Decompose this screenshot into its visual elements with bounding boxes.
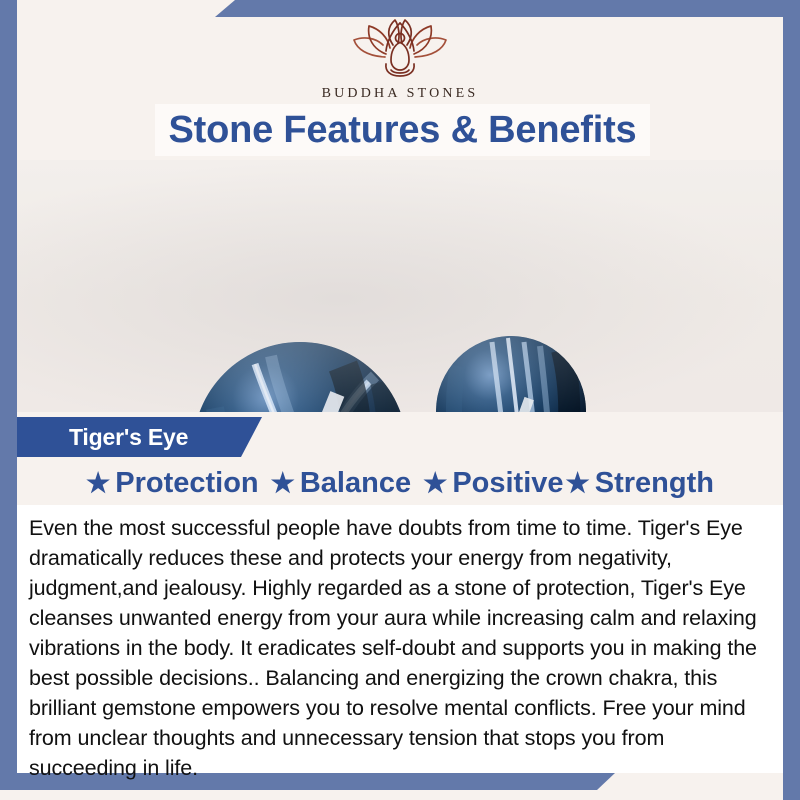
benefit-item-positive: ★ Positive — [423, 467, 563, 500]
lotus-meditation-icon — [347, 14, 453, 84]
medium-sphere-reflection-chip — [518, 397, 534, 412]
brand-name: BUDDHA STONES — [0, 86, 800, 102]
frame-band-left — [0, 0, 17, 790]
page-title: Stone Features & Benefits — [169, 109, 637, 152]
frame-band-right — [783, 0, 800, 800]
description-card: Even the most successful people have dou… — [17, 505, 783, 773]
star-icon: ★ — [271, 470, 295, 497]
medium-sphere-chatoyancy — [436, 336, 586, 412]
star-icon: ★ — [423, 470, 447, 497]
brand-logo: BUDDHA STONES — [0, 14, 800, 102]
large-sphere — [193, 342, 407, 412]
infographic-page: BUDDHA STONES Stone Features & Benefits — [0, 0, 800, 800]
benefits-row: ★ Protection ★ Balance ★ Positive ★ Stre… — [17, 462, 783, 504]
benefit-item-strength: ★ Strength — [566, 467, 714, 500]
benefit-item-balance: ★ Balance — [271, 467, 411, 500]
benefit-label: Balance — [300, 467, 411, 500]
large-sphere-reflection-chip — [321, 391, 345, 412]
benefit-item-protection: ★ Protection — [86, 467, 259, 500]
title-banner: Stone Features & Benefits — [155, 104, 650, 156]
stone-name-ribbon: Tiger's Eye — [17, 417, 262, 457]
benefit-label: Positive — [452, 467, 563, 500]
stone-name: Tiger's Eye — [69, 424, 188, 451]
benefit-label: Protection — [115, 467, 258, 500]
description-text: Even the most successful people have dou… — [29, 513, 769, 783]
star-icon: ★ — [566, 470, 590, 497]
star-icon: ★ — [86, 470, 110, 497]
benefit-label: Strength — [595, 467, 714, 500]
product-photo — [17, 160, 783, 412]
large-sphere-chatoyancy — [193, 342, 407, 412]
medium-sphere — [436, 336, 586, 412]
